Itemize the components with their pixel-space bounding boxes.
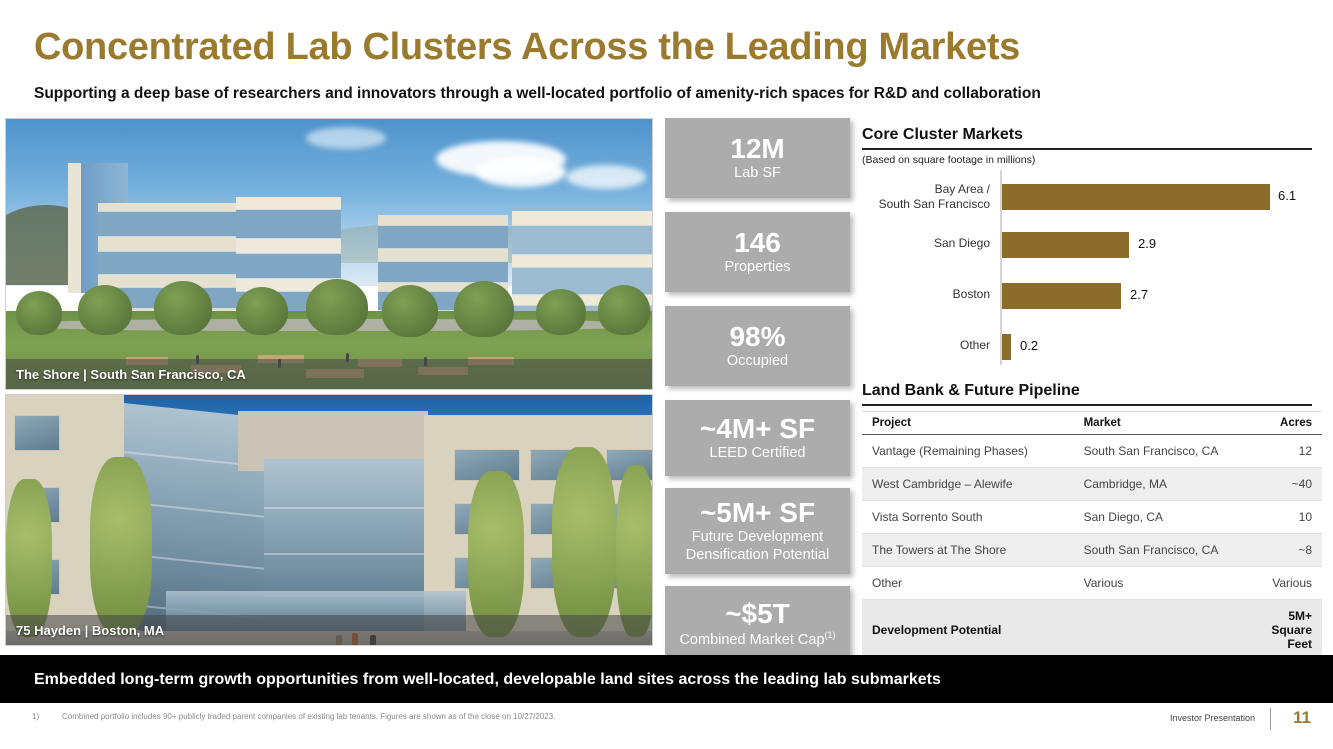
stat-footnote-marker: (1): [825, 630, 836, 640]
tree: [382, 285, 438, 337]
stat-card-properties: 146 Properties: [665, 212, 850, 292]
table-panel-title: Land Bank & Future Pipeline: [862, 382, 1080, 400]
tree: [536, 289, 586, 335]
stat-card-leed-certified: ~4M+ SF LEED Certified: [665, 400, 850, 476]
footer-divider: [1270, 708, 1271, 730]
tree: [552, 447, 616, 637]
table-title-rule: [862, 404, 1312, 406]
tree: [468, 471, 524, 637]
table-row: Other Various Various: [862, 567, 1322, 600]
bar-value-label: 0.2: [1020, 338, 1038, 353]
bar: [1002, 334, 1011, 360]
cell-acres: ~8: [1248, 534, 1322, 567]
page-subtitle: Supporting a deep base of researchers an…: [34, 85, 1041, 103]
stat-label: Properties: [724, 259, 790, 276]
tree: [236, 287, 288, 335]
bar-value-label: 2.9: [1138, 236, 1156, 251]
tree: [306, 279, 368, 335]
cell-project: West Cambridge – Alewife: [862, 468, 1074, 501]
stat-card-lab-sf: 12M Lab SF: [665, 118, 850, 198]
photo-caption-the-shore: The Shore | South San Francisco, CA: [16, 367, 246, 382]
photo-75-hayden: 75 Hayden | Boston, MA: [5, 394, 653, 646]
tree: [90, 457, 152, 635]
table-row: Vantage (Remaining Phases) South San Fra…: [862, 435, 1322, 468]
cell-acres: ~40: [1248, 468, 1322, 501]
cell-project: The Towers at The Shore: [862, 534, 1074, 567]
deck-name: Investor Presentation: [1170, 713, 1255, 723]
bar-category-label: Other: [850, 338, 990, 353]
stat-value: ~5M+ SF: [700, 498, 815, 527]
cell-market: South San Francisco, CA: [1074, 534, 1249, 567]
page-number: 11: [1293, 708, 1311, 728]
cell-market: San Diego, CA: [1074, 501, 1249, 534]
tree: [454, 281, 514, 337]
land-bank-table: Project Market Acres Vantage (Remaining …: [862, 411, 1322, 661]
footnote-marker: 1): [32, 712, 39, 721]
cell-project: Vantage (Remaining Phases): [862, 435, 1074, 468]
tree: [78, 285, 132, 335]
bar: [1002, 283, 1121, 309]
tree: [6, 479, 52, 637]
cell-market: Cambridge, MA: [1074, 468, 1249, 501]
tree: [16, 291, 62, 335]
total-spacer: [1074, 600, 1249, 661]
stat-value: 98%: [729, 322, 785, 351]
stat-card-occupied: 98% Occupied: [665, 306, 850, 386]
table-total-row: Development Potential 5M+ Square Feet: [862, 600, 1322, 661]
stat-label: Combined Market Cap: [679, 632, 824, 648]
stat-value: 12M: [730, 134, 784, 163]
chart-panel-title: Core Cluster Markets: [862, 126, 1023, 144]
footnote-text: Combined portfolio includes 90+ publicly…: [62, 712, 555, 721]
bar: [1002, 232, 1129, 258]
stat-value: ~4M+ SF: [700, 414, 815, 443]
bar-category-label: Boston: [850, 287, 990, 302]
table-row: The Towers at The Shore South San Franci…: [862, 534, 1322, 567]
tree: [154, 281, 212, 335]
bar-category-label: Bay Area / South San Francisco: [850, 182, 990, 212]
total-label: Development Potential: [862, 600, 1074, 661]
chart-title-rule: [862, 148, 1312, 150]
cell-market: Various: [1074, 567, 1249, 600]
photo-the-shore: The Shore | South San Francisco, CA: [5, 118, 653, 390]
bar: [1002, 184, 1270, 210]
tree: [616, 465, 653, 637]
core-cluster-markets-chart: Bay Area / South San Francisco 6.1 San D…: [862, 170, 1322, 365]
table-header-row: Project Market Acres: [862, 412, 1322, 435]
stat-label-wrap: Combined Market Cap(1): [679, 630, 835, 649]
stat-label: Occupied: [727, 353, 788, 370]
window: [14, 415, 60, 451]
table-row: West Cambridge – Alewife Cambridge, MA ~…: [862, 468, 1322, 501]
cell-project: Other: [862, 567, 1074, 600]
cloud-icon: [306, 127, 386, 149]
stat-label: LEED Certified: [710, 445, 806, 462]
photo-caption-75-hayden: 75 Hayden | Boston, MA: [16, 623, 164, 638]
stat-value: ~$5T: [725, 599, 790, 628]
bar-category-label: San Diego: [850, 236, 990, 251]
cell-acres: Various: [1248, 567, 1322, 600]
page-title: Concentrated Lab Clusters Across the Lea…: [34, 26, 1020, 69]
cloud-icon: [476, 157, 566, 187]
cell-project: Vista Sorrento South: [862, 501, 1074, 534]
stat-label: Lab SF: [734, 165, 781, 182]
stat-card-combined-market-cap: ~$5T Combined Market Cap(1): [665, 586, 850, 662]
cell-acres: 12: [1248, 435, 1322, 468]
bar-value-label: 6.1: [1278, 188, 1296, 203]
cell-market: South San Francisco, CA: [1074, 435, 1249, 468]
stat-label: Future Development Densification Potenti…: [686, 529, 829, 564]
table-header-project: Project: [862, 412, 1074, 435]
tree: [598, 285, 650, 335]
cell-acres: 10: [1248, 501, 1322, 534]
table-header-acres: Acres: [1248, 412, 1322, 435]
chart-subnote: (Based on square footage in millions): [862, 154, 1035, 166]
stat-value: 146: [734, 228, 781, 257]
stat-card-future-development: ~5M+ SF Future Development Densification…: [665, 488, 850, 574]
total-value: 5M+ Square Feet: [1248, 600, 1322, 661]
table-header-market: Market: [1074, 412, 1249, 435]
table-row: Vista Sorrento South San Diego, CA 10: [862, 501, 1322, 534]
bar-value-label: 2.7: [1130, 287, 1148, 302]
cloud-icon: [566, 165, 646, 189]
bottom-banner-text: Embedded long-term growth opportunities …: [34, 671, 941, 689]
slide: Concentrated Lab Clusters Across the Lea…: [0, 0, 1333, 749]
